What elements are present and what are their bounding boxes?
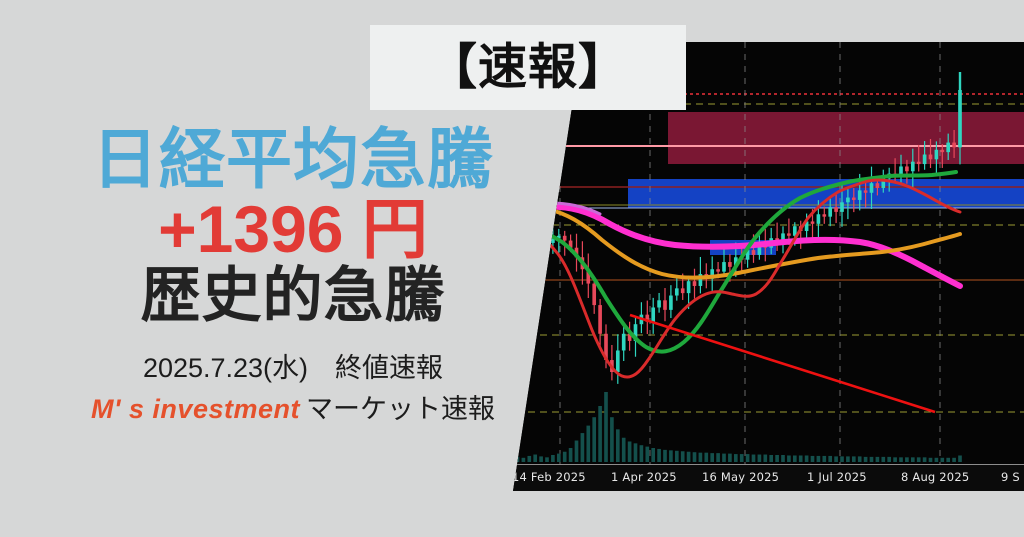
page-title: 日経平均急騰 (0, 126, 586, 192)
x-tick-4: 8 Aug 2025 (901, 470, 969, 484)
brand-line: M' s investmentマーケット速報 (0, 396, 586, 423)
x-tick-3: 1 Jul 2025 (807, 470, 867, 484)
x-tick-5: 9 S (1001, 470, 1020, 484)
zone-resistance-band (668, 112, 1024, 164)
x-tick-1: 1 Apr 2025 (611, 470, 677, 484)
chart-x-axis: 14 Feb 2025 1 Apr 2025 16 May 2025 1 Jul… (480, 464, 1024, 491)
zone-support-band (628, 179, 1024, 208)
date-line: 2025.7.23(水) 終値速報 (0, 355, 586, 382)
brand-mark: M' s investment (91, 394, 300, 424)
breaking-news-badge: 【速報】 (370, 25, 686, 110)
subtitle: 歴史的急騰 (0, 266, 586, 326)
brand-tail: マーケット速報 (306, 394, 495, 424)
x-tick-2: 16 May 2025 (702, 470, 779, 484)
x-tick-0: 14 Feb 2025 (512, 470, 586, 484)
poster-canvas: 14 Feb 2025 1 Apr 2025 16 May 2025 1 Jul… (0, 0, 1024, 537)
badge-label: 【速報】 (370, 43, 686, 92)
change-amount: +1396 円 (0, 196, 586, 262)
